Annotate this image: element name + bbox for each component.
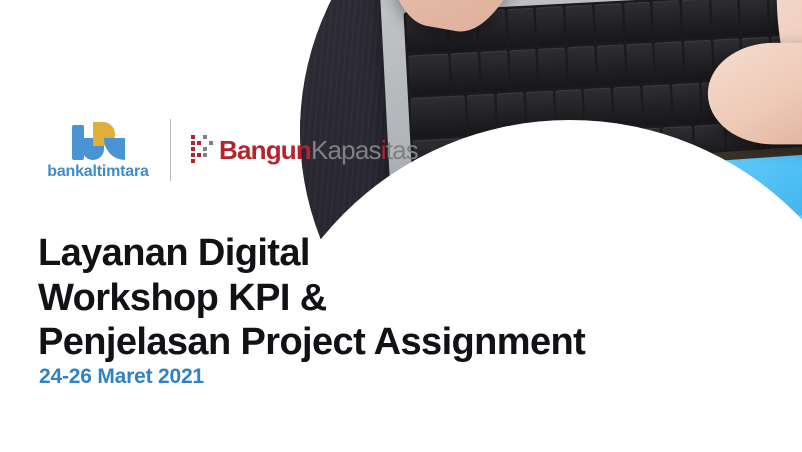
logo-row: bankaltimtara BangunKapasitas <box>40 114 418 186</box>
presentation-slide: bankaltimtara BangunKapasitas Layanan Di… <box>0 0 802 452</box>
event-date: 24-26 Maret 2021 <box>39 365 204 389</box>
bankaltimtara-logo: bankaltimtara <box>40 120 156 181</box>
vertical-divider <box>170 119 171 181</box>
page-title: Layanan Digital Workshop KPI & Penjelasa… <box>38 231 585 364</box>
wordmark-tas: tas <box>386 135 418 165</box>
wordmark-bangun: Bangun <box>219 135 311 165</box>
bangunkapasitas-logo: BangunKapasitas <box>191 135 418 165</box>
wordmark-kapas: Kapas <box>311 135 381 165</box>
bankaltimtara-wordmark: bankaltimtara <box>47 163 148 181</box>
bankaltimtara-logo-icon <box>68 120 128 160</box>
bangunkapasitas-wordmark: BangunKapasitas <box>219 137 418 163</box>
pixel-grid-icon <box>191 135 213 163</box>
